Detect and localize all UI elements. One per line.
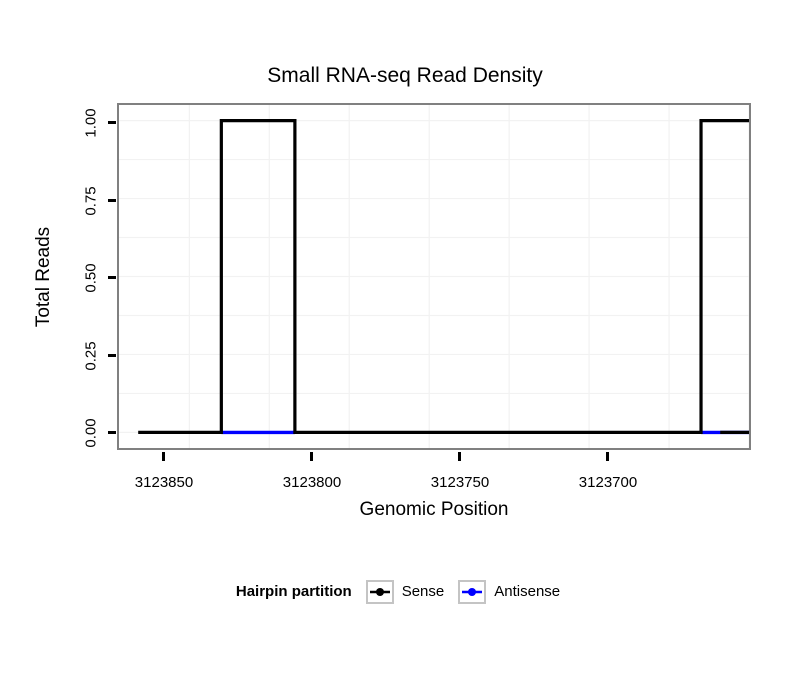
plot-panel: [117, 103, 751, 450]
plot-area: [119, 105, 749, 448]
legend-label-antisense: Antisense: [494, 583, 560, 601]
x-axis-title: Genomic Position: [117, 498, 751, 522]
x-tick-mark-4: [606, 452, 609, 461]
y-tick-text-5: 0.00: [83, 418, 101, 447]
chart-title: Small RNA-seq Read Density: [0, 62, 810, 90]
y-tick-mark-4: [108, 354, 116, 357]
y-tick-mark-3: [108, 276, 116, 279]
x-tick-mark-2: [310, 452, 313, 461]
y-tick-text-3: 0.50: [83, 263, 101, 292]
legend-key-antisense-icon: [458, 580, 486, 604]
x-tick-mark-3: [458, 452, 461, 461]
y-axis-title-text: Total Reads: [33, 226, 55, 326]
y-tick-mark-2: [108, 199, 116, 202]
gridlines: [119, 105, 749, 448]
y-tick-text-4: 0.25: [83, 341, 101, 370]
legend-entry-antisense[interactable]: Antisense: [458, 580, 560, 604]
legend-title: Hairpin partition: [236, 583, 352, 601]
x-tick-mark-1: [162, 452, 165, 461]
legend-entry-sense[interactable]: Sense: [366, 580, 445, 604]
x-tick-label-4: 3123700: [548, 474, 668, 492]
chart-root: Small RNA-seq Read Density Total Reads 1…: [0, 0, 810, 690]
x-tick-label-1: 3123850: [104, 474, 224, 492]
legend-label-sense: Sense: [402, 583, 445, 601]
legend: Hairpin partition Sense Antisense: [0, 580, 810, 604]
y-axis-title: Total Reads: [32, 103, 56, 450]
y-tick-text-2: 0.75: [83, 186, 101, 215]
y-tick-mark-5: [108, 431, 116, 434]
legend-key-sense-icon: [366, 580, 394, 604]
y-tick-mark-1: [108, 121, 116, 124]
x-tick-label-2: 3123800: [252, 474, 372, 492]
x-tick-label-3: 3123750: [400, 474, 520, 492]
y-tick-text-1: 1.00: [83, 108, 101, 137]
